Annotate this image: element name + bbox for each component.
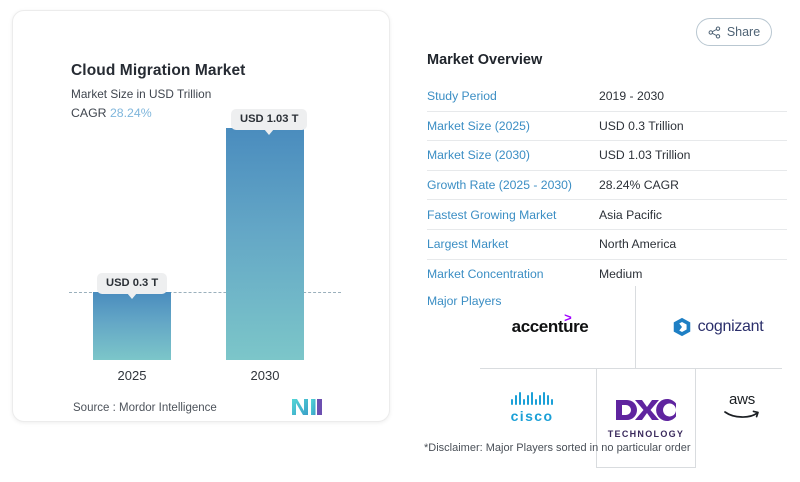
- player-logo-accenture[interactable]: accenture >: [470, 302, 630, 352]
- dxc-sub-label: TECHNOLOGY: [608, 429, 685, 439]
- row-value: USD 1.03 Trillion: [599, 148, 690, 162]
- table-row: Largest Market North America: [427, 230, 787, 260]
- table-row: Market Size (2030) USD 1.03 Trillion: [427, 141, 787, 171]
- bar-chart-plot: USD 0.3 T USD 1.03 T 2025 2030: [13, 11, 391, 423]
- data-label-2025: USD 0.3 T: [97, 273, 167, 294]
- row-value: Asia Pacific: [599, 208, 662, 222]
- disclaimer-text: *Disclaimer: Major Players sorted in no …: [424, 442, 691, 454]
- player-logo-cognizant[interactable]: cognizant: [642, 302, 792, 352]
- accenture-arrow-icon: >: [564, 310, 571, 325]
- market-overview-panel: Share Market Overview Study Period 2019 …: [424, 0, 792, 482]
- market-summary-page: Cloud Migration Market Market Size in US…: [0, 0, 800, 482]
- bar-2030[interactable]: [226, 128, 304, 360]
- aws-smile-icon: [724, 409, 760, 420]
- table-row: Market Size (2025) USD 0.3 Trillion: [427, 112, 787, 142]
- row-value: 2019 - 2030: [599, 89, 664, 103]
- table-row: Growth Rate (2025 - 2030) 28.24% CAGR: [427, 171, 787, 201]
- cognizant-mark-icon: [671, 316, 693, 338]
- share-button[interactable]: Share: [696, 18, 772, 46]
- row-value: North America: [599, 237, 676, 251]
- data-label-2030: USD 1.03 T: [231, 109, 307, 130]
- grid-divider-horizontal: [696, 368, 782, 369]
- share-button-label: Share: [727, 25, 760, 39]
- grid-divider-horizontal: [480, 368, 596, 369]
- row-key: Market Size (2025): [427, 119, 599, 133]
- accenture-label: accenture: [512, 317, 589, 336]
- share-network-icon: [708, 26, 721, 39]
- x-tick-2025: 2025: [93, 368, 171, 383]
- chart-card: Cloud Migration Market Market Size in US…: [12, 10, 390, 422]
- row-key: Market Size (2030): [427, 148, 599, 162]
- row-value: 28.24% CAGR: [599, 178, 679, 192]
- bar-2025[interactable]: [93, 292, 171, 360]
- grid-divider-vertical: [635, 286, 636, 368]
- dxc-mark-icon: [615, 398, 677, 422]
- row-key: Fastest Growing Market: [427, 208, 599, 222]
- cognizant-label: cognizant: [698, 318, 764, 336]
- x-tick-2030: 2030: [226, 368, 304, 383]
- major-players-grid: accenture > cognizant: [510, 286, 782, 426]
- source-text: Source : Mordor Intelligence: [73, 402, 217, 414]
- row-key: Growth Rate (2025 - 2030): [427, 178, 599, 192]
- table-row: Study Period 2019 - 2030: [427, 82, 787, 112]
- table-row: Market Concentration Medium: [427, 260, 787, 289]
- cisco-bars-icon: [511, 392, 554, 405]
- cisco-label: cisco: [511, 408, 554, 424]
- mordor-intelligence-logo: [291, 397, 323, 416]
- player-logo-cisco[interactable]: cisco: [468, 380, 596, 436]
- row-key: Largest Market: [427, 237, 599, 251]
- aws-label: aws: [724, 392, 760, 407]
- row-key: Market Concentration: [427, 267, 599, 281]
- player-logo-aws[interactable]: aws: [700, 380, 784, 436]
- row-key: Study Period: [427, 89, 599, 103]
- overview-title: Market Overview: [427, 52, 542, 68]
- table-row: Fastest Growing Market Asia Pacific: [427, 200, 787, 230]
- overview-table: Study Period 2019 - 2030 Market Size (20…: [427, 82, 787, 288]
- row-value: Medium: [599, 267, 642, 281]
- row-value: USD 0.3 Trillion: [599, 119, 684, 133]
